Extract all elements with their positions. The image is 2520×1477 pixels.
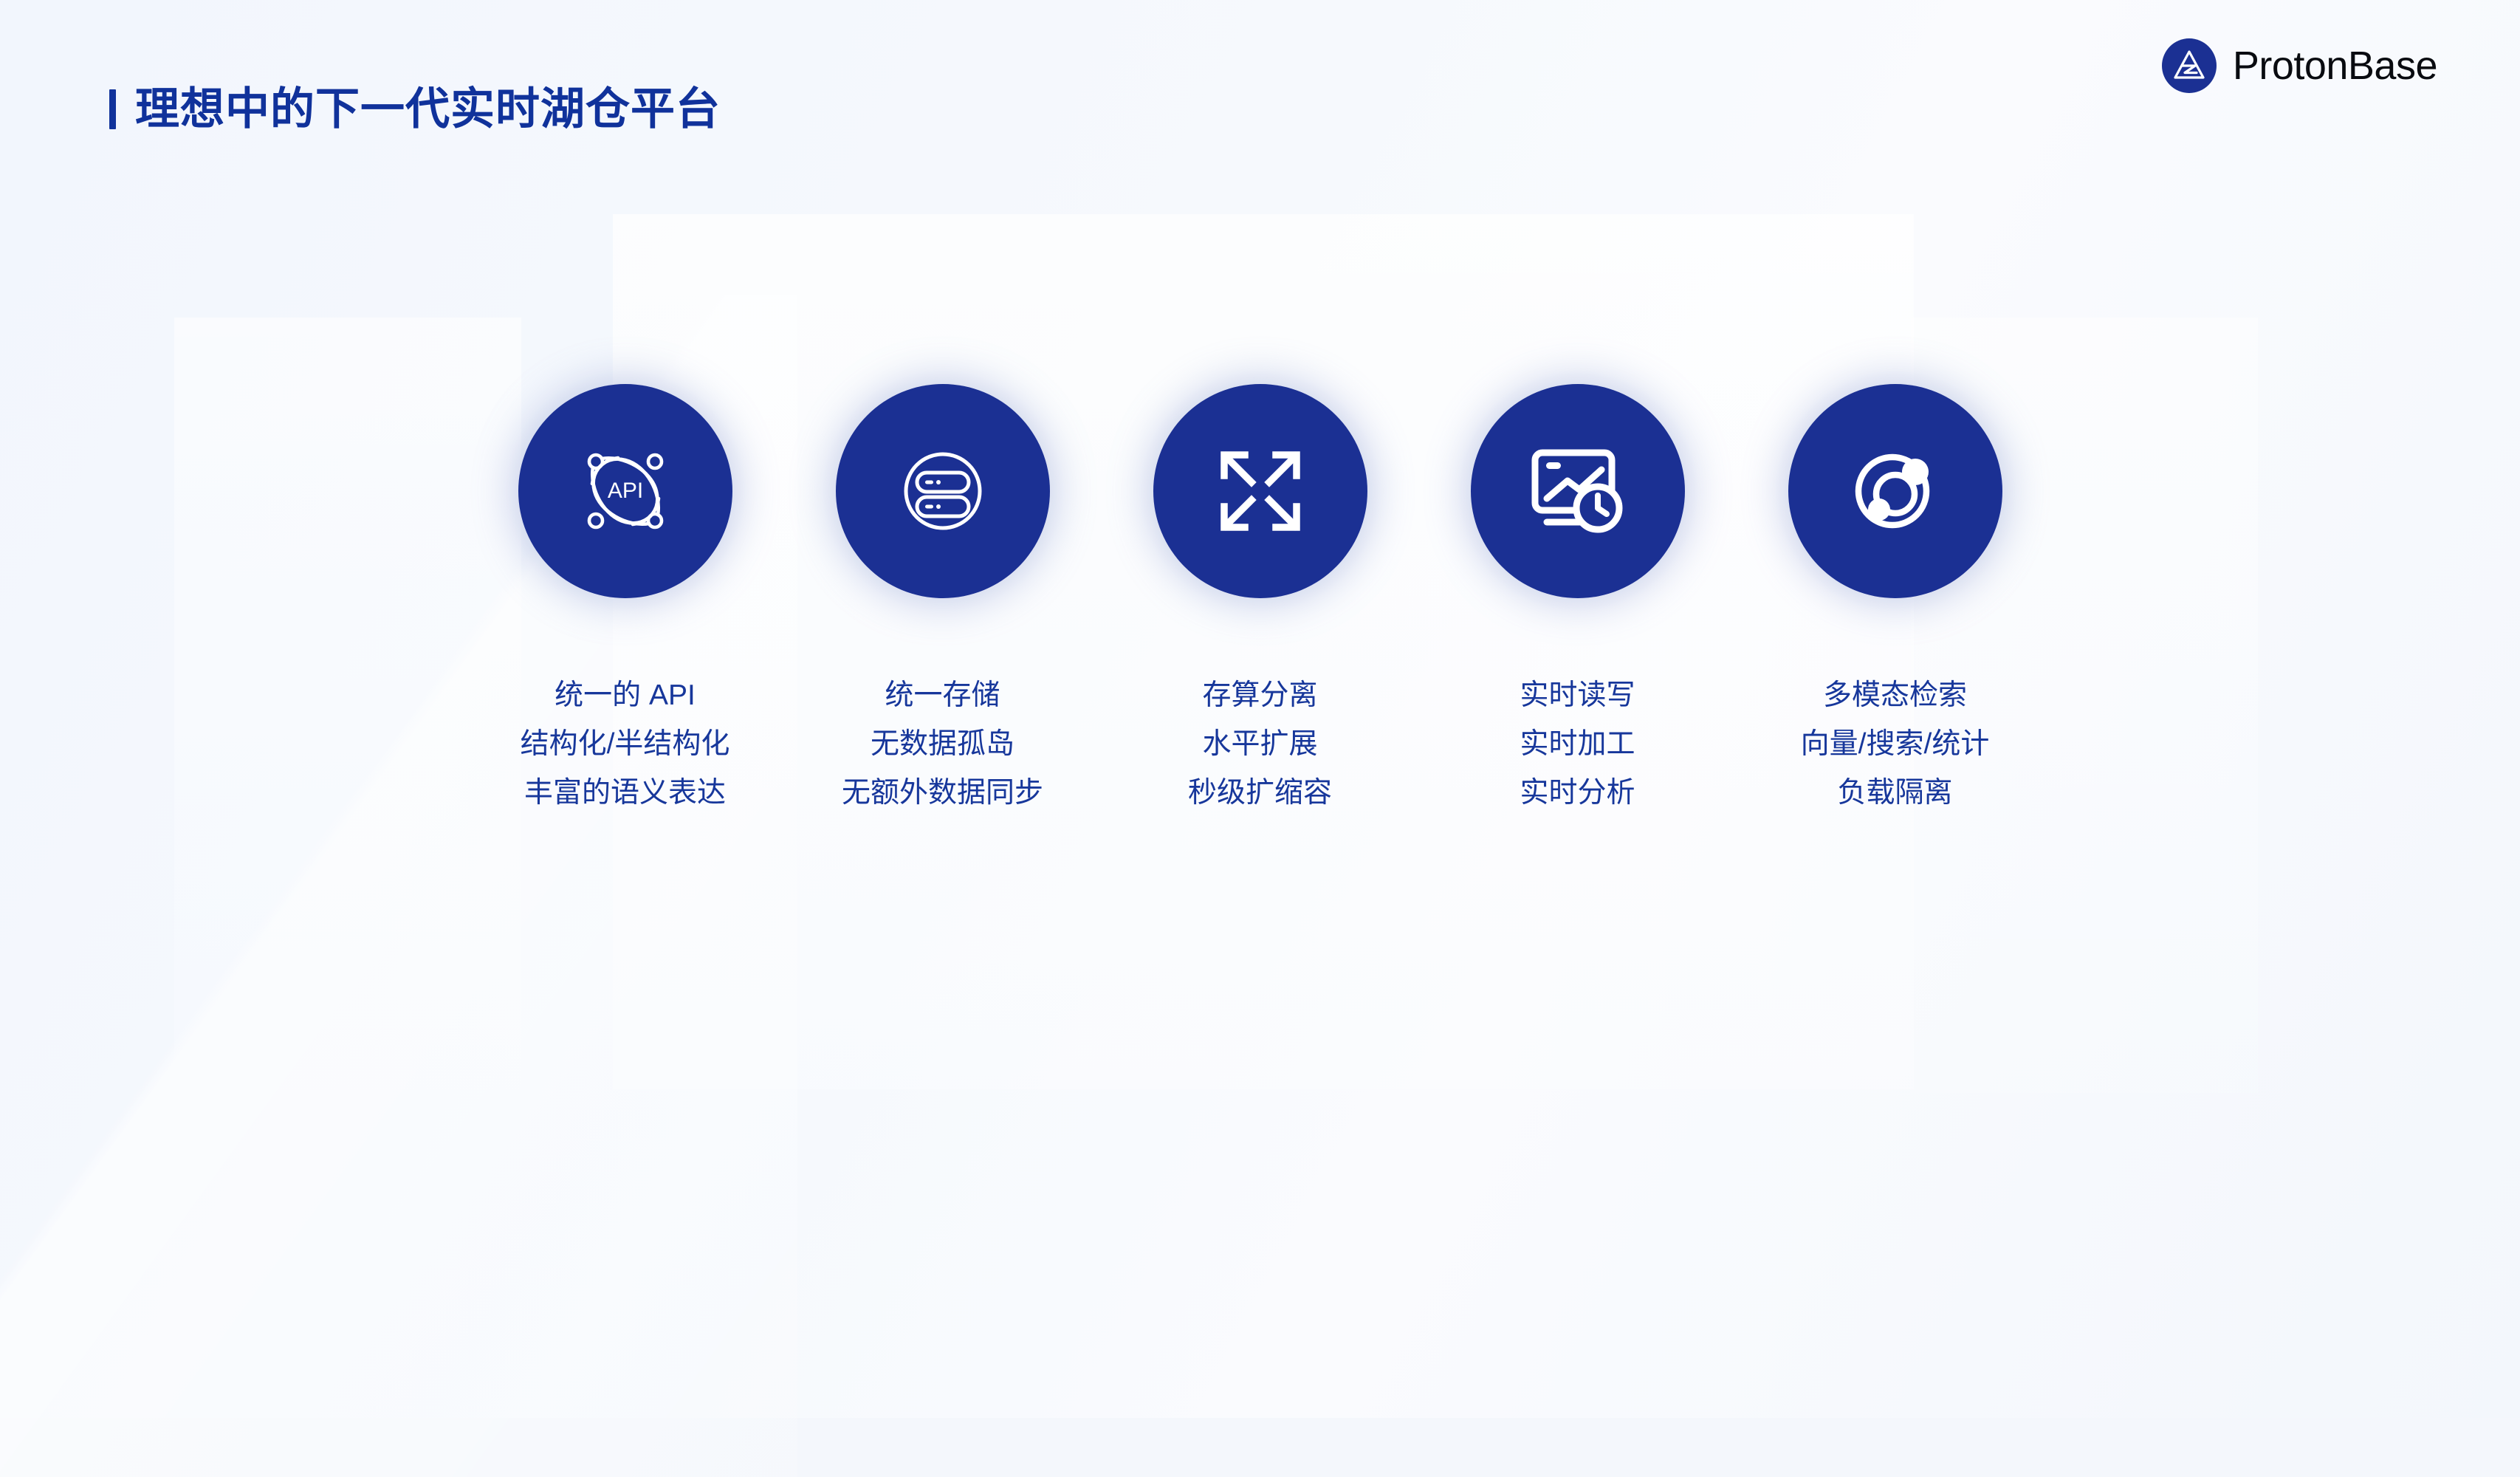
feature-label-line: 多模态检索 — [1823, 679, 1967, 713]
feature-item-api[interactable]: API 统一的 API 结构化/半结构化 丰富的语义表达 — [467, 347, 784, 810]
icon-circle — [1788, 384, 2002, 598]
feature-label-line: 水平扩展 — [1202, 728, 1317, 761]
feature-label-line: 实时读写 — [1520, 679, 1635, 713]
feature-label-line: 结构化/半结构化 — [521, 728, 730, 761]
feature-label-line: 实时加工 — [1520, 728, 1635, 761]
icon-halo — [1116, 347, 1404, 635]
api-icon-text: API — [607, 479, 642, 503]
icon-circle — [1471, 384, 1685, 598]
icon-halo — [799, 347, 1087, 635]
feature-label-line: 统一存储 — [885, 679, 1000, 713]
feature-labels: 实时读写 实时加工 实时分析 — [1520, 679, 1635, 810]
feature-item-storage[interactable]: 统一存储 无数据孤岛 无额外数据同步 — [784, 347, 1102, 810]
feature-label-line: 向量/搜索/统计 — [1801, 728, 1990, 761]
page-title-group: 理想中的下一代实时湖仓平台 — [109, 87, 721, 131]
feature-labels: 存算分离 水平扩展 秒级扩缩容 — [1188, 679, 1332, 810]
expand-arrows-icon — [1217, 448, 1304, 535]
icon-halo — [1434, 347, 1722, 635]
icon-circle — [1153, 384, 1367, 598]
brand-name: ProtonBase — [2233, 43, 2437, 89]
feature-labels: 多模态检索 向量/搜索/统计 负载隔离 — [1801, 679, 1990, 810]
icon-circle — [836, 384, 1050, 598]
feature-label-line: 实时分析 — [1520, 777, 1635, 810]
feature-item-realtime[interactable]: 实时读写 实时加工 实时分析 — [1419, 347, 1737, 810]
icon-halo — [1751, 347, 2039, 635]
feature-label-line: 无额外数据同步 — [842, 777, 1043, 810]
feature-item-multimodal[interactable]: 多模态检索 向量/搜索/统计 负载隔离 — [1737, 347, 2054, 810]
feature-label-line: 无数据孤岛 — [871, 728, 1014, 761]
feature-item-scaling[interactable]: 存算分离 水平扩展 秒级扩缩容 — [1102, 347, 1419, 810]
feature-labels: 统一存储 无数据孤岛 无额外数据同步 — [842, 679, 1043, 810]
database-storage-icon — [897, 445, 989, 537]
api-atom-icon: API — [580, 445, 671, 537]
feature-label-line: 统一的 API — [555, 679, 696, 713]
icon-circle: API — [518, 384, 732, 598]
title-accent-bar — [109, 89, 116, 129]
brand-logo: ProtonBase — [2162, 38, 2437, 93]
realtime-chart-clock-icon — [1531, 445, 1625, 537]
icon-halo: API — [481, 347, 769, 635]
feature-labels: 统一的 API 结构化/半结构化 丰富的语义表达 — [521, 679, 730, 810]
slide-header: 理想中的下一代实时湖仓平台 ProtonBase — [0, 0, 2520, 170]
feature-label-line: 存算分离 — [1202, 679, 1317, 713]
feature-label-line: 丰富的语义表达 — [524, 777, 726, 810]
feature-label-line: 秒级扩缩容 — [1188, 777, 1332, 810]
feature-label-line: 负载隔离 — [1837, 777, 1952, 810]
page-title: 理想中的下一代实时湖仓平台 — [135, 87, 721, 131]
multimodal-orbit-icon — [1850, 445, 1941, 537]
protonbase-triangle-logo-icon — [2162, 38, 2217, 93]
feature-row: API 统一的 API 结构化/半结构化 丰富的语义表达 — [0, 347, 2520, 810]
